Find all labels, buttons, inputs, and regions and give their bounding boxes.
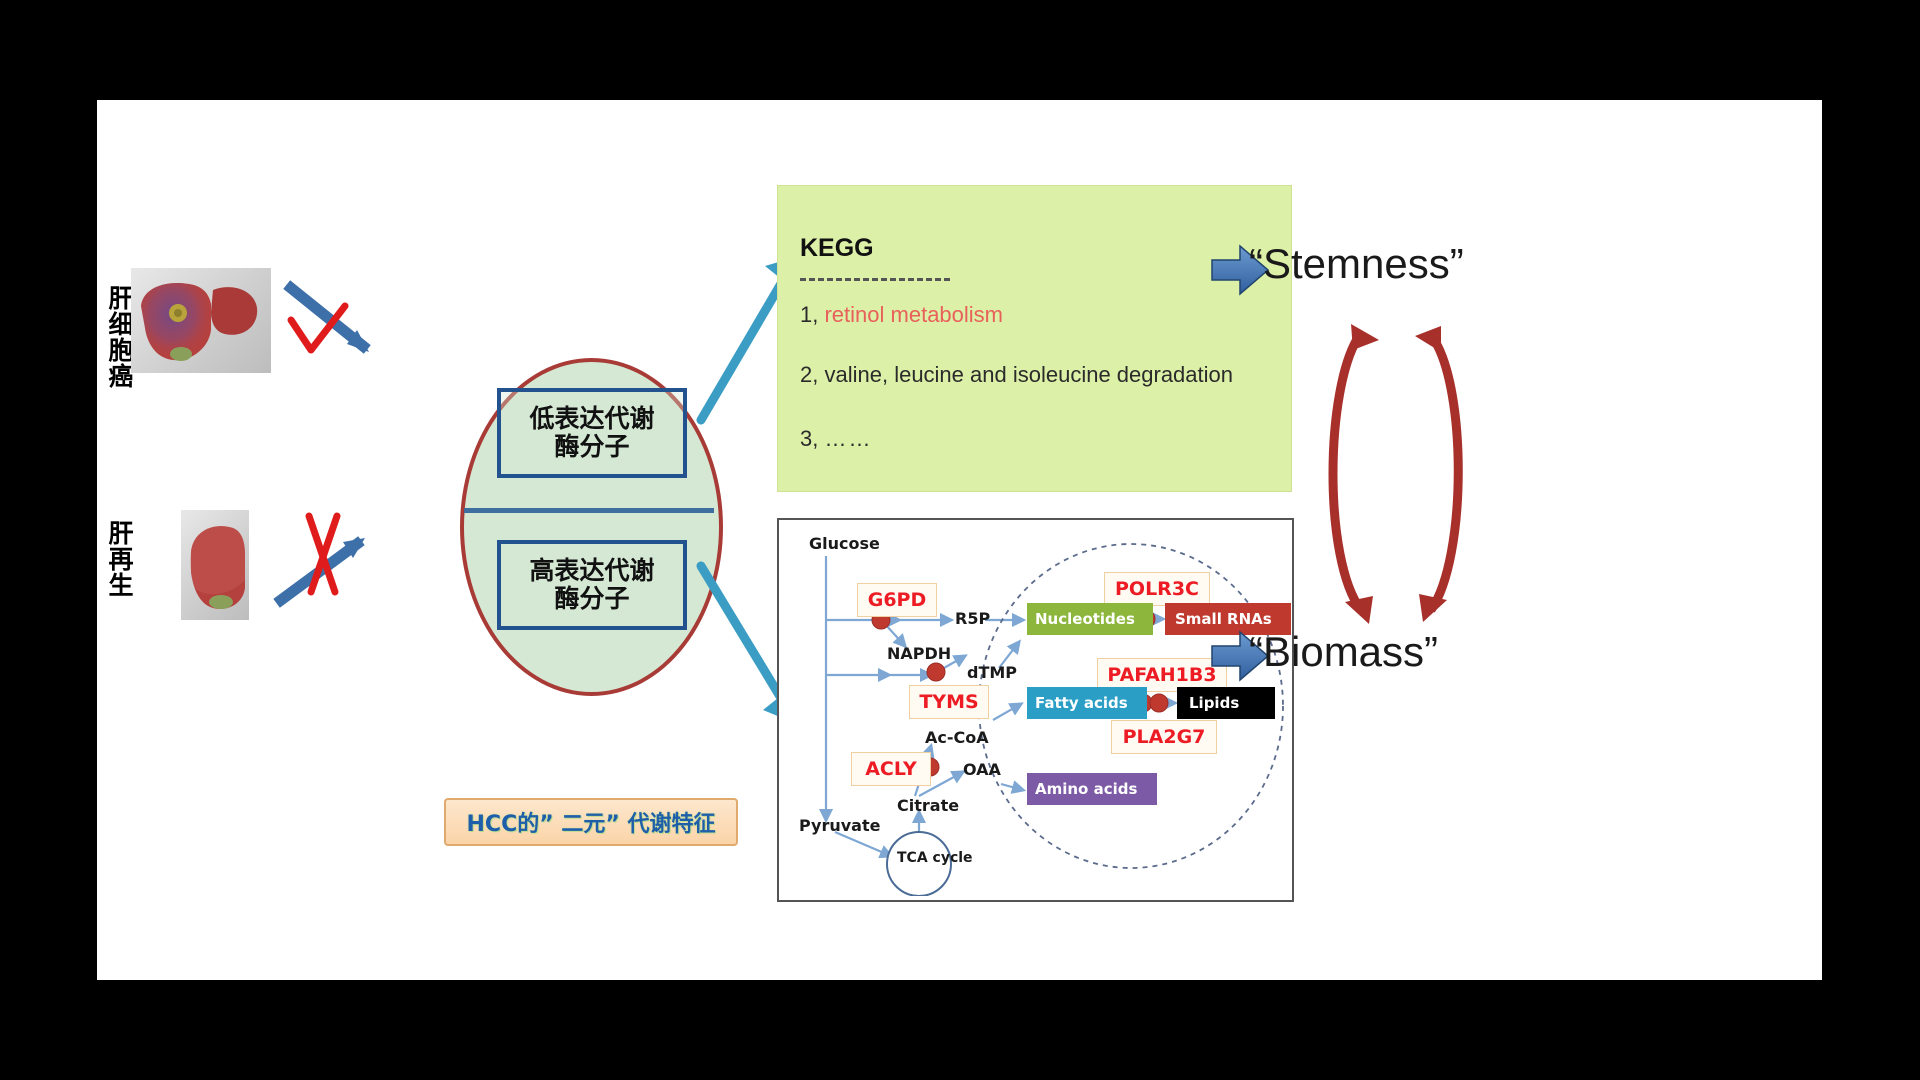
gene-box-tyms: TYMS (909, 685, 989, 719)
product-box-fatty-acids: Fatty acids (1027, 687, 1147, 719)
kegg-item-2: 2, valine, leucine and isoleucine degrad… (800, 362, 1233, 388)
enzyme-box-low: 低表达代谢 酶分子 (497, 388, 687, 478)
row-label-regeneration: 肝再生 (101, 520, 137, 615)
enzyme-box-low-line1: 低表达代谢 (529, 404, 654, 433)
enzyme-box-high: 高表达代谢 酶分子 (497, 540, 687, 630)
pw-label-tca-cycle-text: TCA cycle (897, 850, 973, 866)
pw-label-oaa: OAA (963, 760, 1001, 779)
gene-box-g6pd: G6PD (857, 583, 937, 617)
kegg-divider (800, 278, 950, 281)
kegg-item-3-number: 3, (800, 426, 818, 451)
gene-box-polr3c: POLR3C (1104, 572, 1210, 606)
product-box-nucleotides: Nucleotides (1027, 603, 1153, 635)
kegg-item-1: 1, retinol metabolism (800, 302, 1003, 328)
pw-label-ac-coa: Ac-CoA (925, 728, 989, 747)
pw-label-tca-cycle: TCA cycle (897, 850, 943, 868)
gene-box-pla2g7: PLA2G7 (1111, 720, 1217, 754)
enzyme-box-high-line2: 酶分子 (554, 584, 629, 613)
pw-label-citrate: Citrate (897, 796, 959, 815)
red-cross-icon-regeneration (295, 508, 355, 600)
liver-lobe-image (181, 510, 249, 620)
hcc-dual-metabolism-caption: HCC的” 二元” 代谢特征 (444, 798, 738, 846)
caption-text: HCC的” 二元” 代谢特征 (467, 806, 716, 838)
pw-label-glucose: Glucose (809, 534, 880, 553)
red-cross-icon-hcc (285, 298, 355, 368)
kegg-item-1-text: retinol metabolism (824, 302, 1003, 327)
liver-tumor-image (131, 268, 271, 373)
kegg-item-3-text: …… (824, 426, 872, 451)
pw-label-r5p: R5P (955, 609, 990, 628)
pw-label-pyruvate: Pyruvate (799, 816, 880, 835)
product-box-amino-acids: Amino acids (1027, 773, 1157, 805)
slide-canvas: 肝细胞癌 (97, 100, 1822, 980)
kegg-title: KEGG (800, 234, 874, 263)
screenshot-stage: 肝细胞癌 (0, 0, 1920, 1080)
metabolic-pathway-panel: Glucose R5P NAPDH dTMP Ac-CoA OAA Citrat… (777, 518, 1294, 902)
product-box-lipids: Lipids (1177, 687, 1275, 719)
kegg-panel: KEGG 1, retinol metabolism 2, valine, le… (777, 185, 1292, 492)
kegg-item-3: 3, …… (800, 426, 872, 452)
kegg-item-1-number: 1, (800, 302, 818, 327)
gene-box-acly: ACLY (851, 752, 931, 786)
pw-label-napdh: NAPDH (887, 644, 951, 663)
pw-label-dtmp: dTMP (967, 663, 1017, 682)
kegg-item-2-number: 2, (800, 362, 818, 387)
enzyme-box-low-line2: 酶分子 (554, 432, 629, 461)
output-label-stemness: “Stemness” (1249, 240, 1464, 288)
red-cyclic-arrow (1297, 310, 1497, 640)
ellipse-divider (464, 508, 714, 513)
kegg-item-2-text: valine, leucine and isoleucine degradati… (824, 362, 1233, 387)
enzyme-box-high-line1: 高表达代谢 (529, 556, 654, 585)
